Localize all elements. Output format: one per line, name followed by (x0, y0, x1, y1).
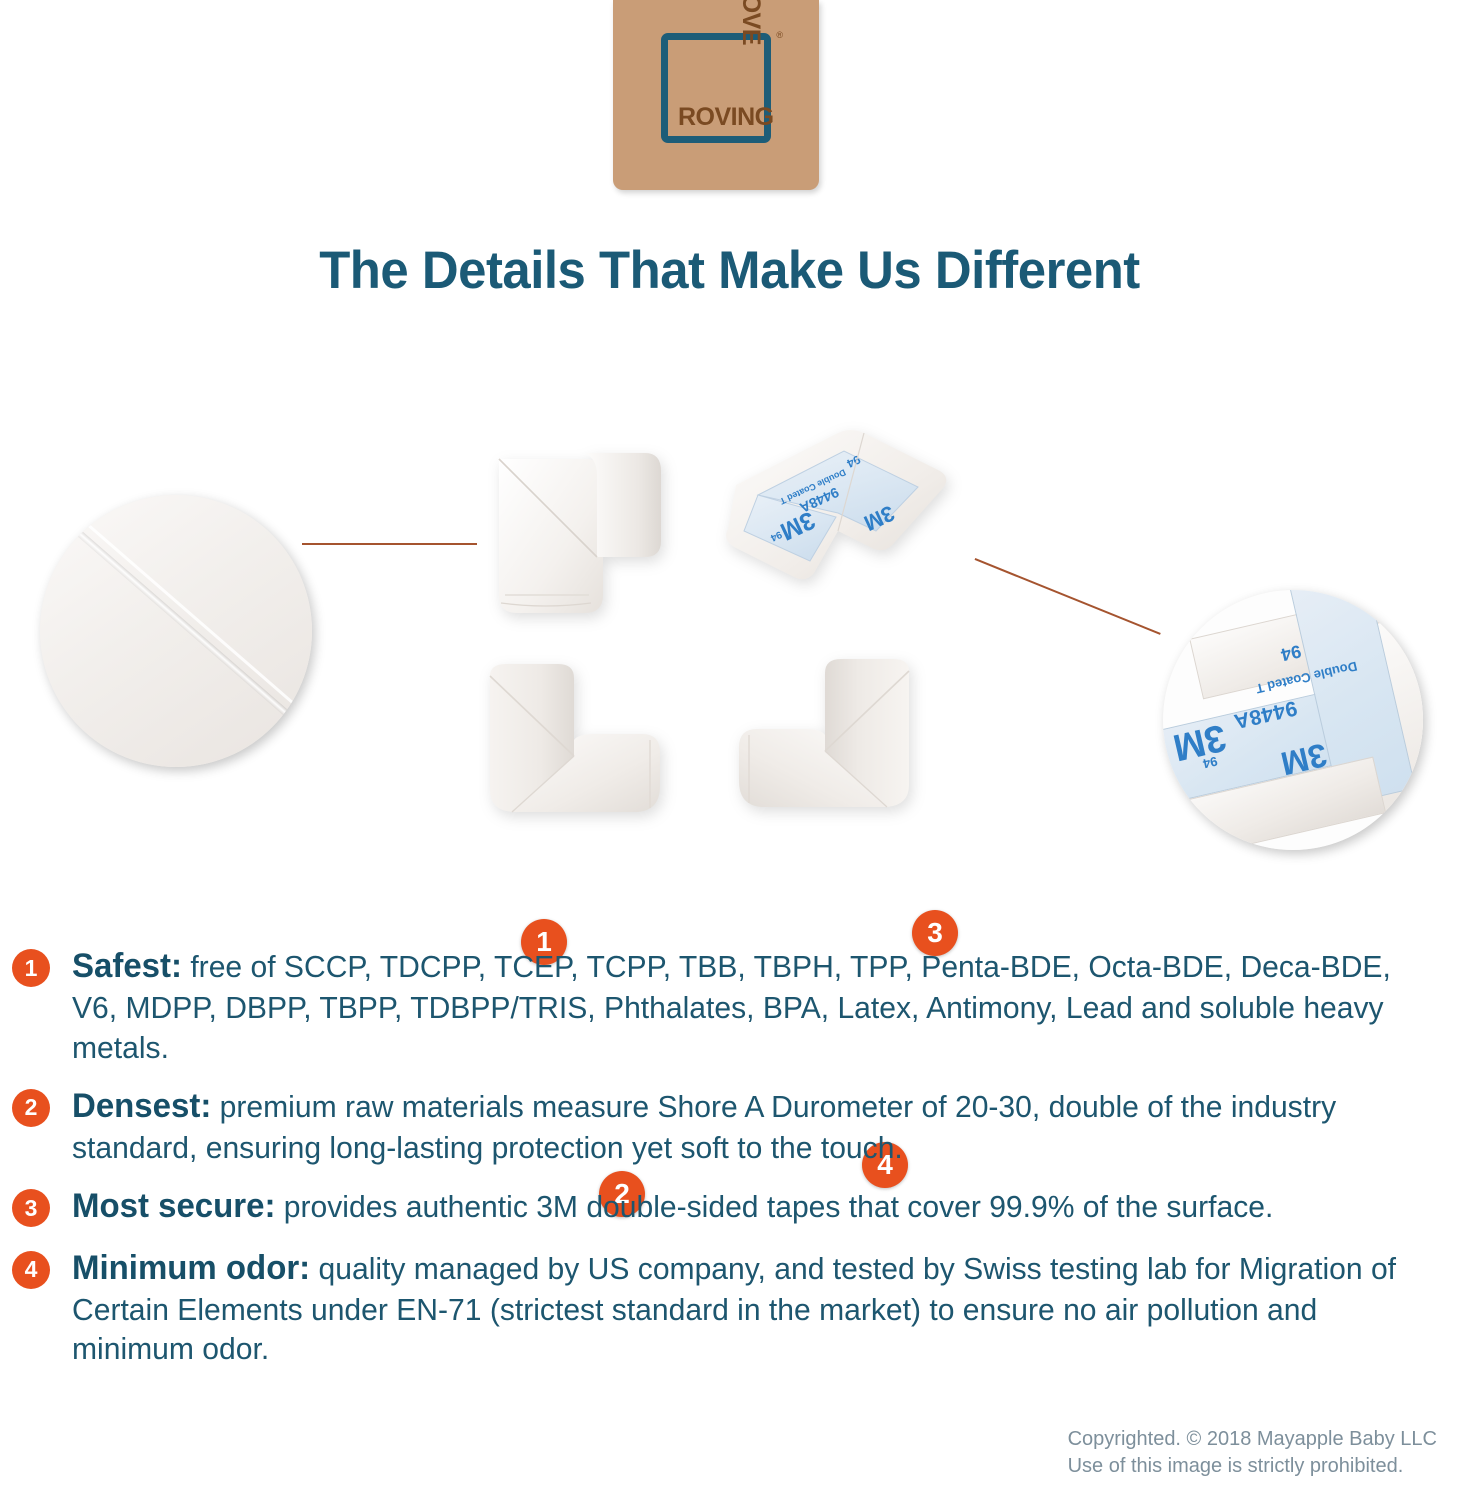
product-figure-1-corner-guard (485, 445, 670, 630)
page-title: The Details That Make Us Different (29, 240, 1430, 301)
logo-frame: ROVING COVE (661, 33, 771, 143)
bullet-3-text: Most secure: provides authentic 3M doubl… (72, 1185, 1417, 1228)
product-figure-3-corner-guard-tape: 3M 9448A Double Coated T 3M 94 94 (718, 425, 958, 600)
connector-line-left (302, 543, 477, 545)
tape-number-bottom: 94 (1201, 754, 1218, 772)
bullet-3-label: Most secure: (72, 1187, 275, 1225)
connector-line-right (975, 558, 1161, 634)
bullet-4-badge: 4 (12, 1251, 50, 1289)
product-figure-stage: 1 2 (0, 400, 1459, 900)
bullet-1-text: Safest: free of SCCP, TDCPP, TCEP, TCPP,… (72, 945, 1417, 1067)
bullet-4-label: Minimum odor: (72, 1249, 310, 1287)
zoom-callout-3m-tape: 3M 9448A Double Coated T 3M 94 94 (1163, 590, 1423, 850)
infographic-page: ROVING COVE ® The Details That Make Us D… (0, 0, 1459, 1500)
bullet-item-4: 4 Minimum odor: quality managed by US co… (0, 1247, 1459, 1369)
bullet-3-body: provides authentic 3M double-sided tapes… (275, 1189, 1273, 1224)
product-figure-4-corner-guard (722, 655, 917, 840)
bullet-1-body: free of SCCP, TDCPP, TCEP, TCPP, TBB, TB… (72, 949, 1391, 1065)
logo-cove-wordmark: COVE (738, 0, 763, 45)
bullet-2-badge: 2 (12, 1089, 50, 1127)
copyright-line-1: Copyrighted. © 2018 Mayapple Baby LLC (1068, 1426, 1437, 1453)
tape-detail-scene: 3M 9448A Double Coated T 3M 94 94 (1163, 590, 1423, 850)
bullet-1-badge: 1 (12, 949, 50, 987)
copyright-line-2: Use of this image is strictly prohibited… (1068, 1453, 1437, 1480)
tape-number-top: 94 (1279, 640, 1303, 665)
bullet-2-text: Densest: premium raw materials measure S… (72, 1085, 1417, 1168)
bullet-1-label: Safest: (72, 947, 182, 985)
registered-trademark-icon: ® (776, 30, 783, 40)
bullet-item-3: 3 Most secure: provides authentic 3M dou… (0, 1185, 1459, 1228)
logo-roving-wordmark: ROVING (678, 105, 774, 130)
feature-bullet-list: 1 Safest: free of SCCP, TDCPP, TCEP, TCP… (0, 945, 1459, 1386)
bullet-4-text: Minimum odor: quality managed by US comp… (72, 1247, 1417, 1369)
bullet-item-2: 2 Densest: premium raw materials measure… (0, 1085, 1459, 1168)
bullet-item-1: 1 Safest: free of SCCP, TDCPP, TCEP, TCP… (0, 945, 1459, 1067)
bullet-2-body: premium raw materials measure Shore A Du… (72, 1089, 1336, 1165)
zoom-callout-foam-surface (40, 495, 312, 767)
brand-logo-tile: ROVING COVE ® (613, 0, 819, 190)
bullet-2-label: Densest: (72, 1087, 211, 1125)
bullet-3-badge: 3 (12, 1189, 50, 1227)
product-figure-2-corner-guard (482, 660, 677, 840)
copyright-footer: Copyrighted. © 2018 Mayapple Baby LLC Us… (1068, 1426, 1437, 1480)
